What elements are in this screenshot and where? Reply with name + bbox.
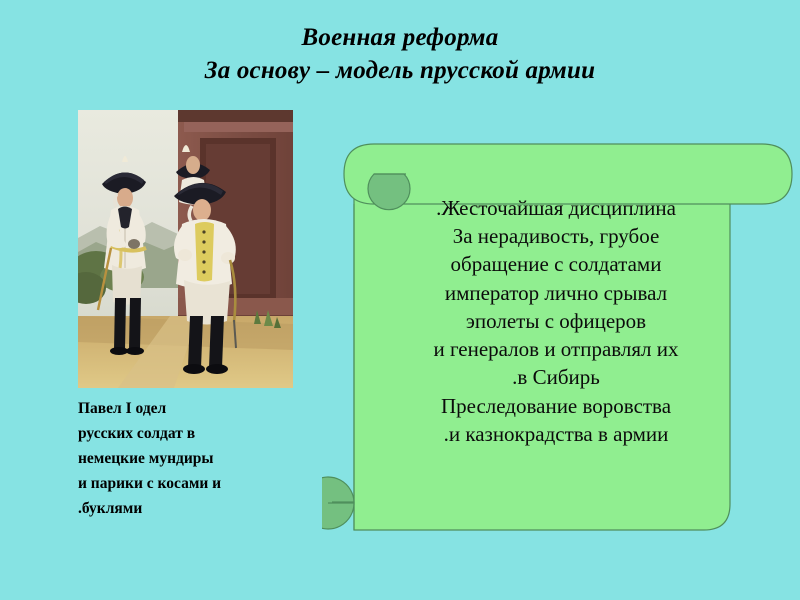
page-title: Военная реформа За основу – модель прусс… [0,22,800,87]
horizontal-scroll-callout: .Жесточайшая дисциплина За нерадивость, … [322,132,800,550]
callout-line-3: обращение с солдатами [360,250,752,278]
callout-line-7: .в Сибирь [360,363,752,391]
callout-line-8: Преследование воровства [360,392,752,420]
painting-image [78,110,293,388]
callout-line-6: и генералов и отправлял их [360,335,752,363]
caption-line-5: .буклями [78,496,303,521]
title-line-2: За основу – модель прусской армии [0,55,800,88]
caption-line-1: Павел I одел [78,396,303,421]
callout-line-5: эполеты с офицеров [360,307,752,335]
title-line-1: Военная реформа [0,22,800,55]
callout-text-block: .Жесточайшая дисциплина За нерадивость, … [360,194,752,448]
caption-line-4: и парики с косами и [78,471,303,496]
slide-canvas: Военная реформа За основу – модель прусс… [0,0,800,600]
image-caption: Павел I одел русских солдат в немецкие м… [78,396,303,522]
callout-line-1: .Жесточайшая дисциплина [360,194,752,222]
callout-line-4: император лично срывал [360,279,752,307]
caption-line-3: немецкие мундиры [78,446,303,471]
caption-line-2: русских солдат в [78,421,303,446]
callout-line-2: За нерадивость, грубое [360,222,752,250]
painting-illustration [78,110,293,388]
callout-line-9: .и казнокрадства в армии [360,420,752,448]
